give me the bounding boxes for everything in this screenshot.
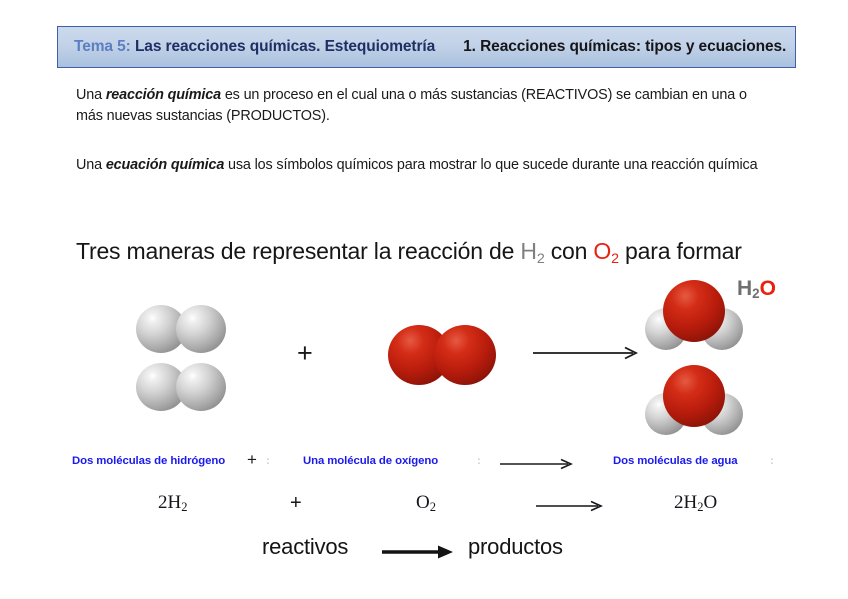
heading-hydrogen-symbol: H bbox=[520, 238, 536, 264]
heading-oxygen-subscript: 2 bbox=[611, 251, 619, 267]
heading-part-1: Tres maneras de representar la reacción … bbox=[76, 238, 520, 264]
oxygen-atom-icon bbox=[434, 325, 496, 385]
caption-separator-dots: : bbox=[770, 455, 774, 467]
equation-reactant-oxygen: O2 bbox=[416, 492, 436, 514]
section-heading: Tres maneras de representar la reacción … bbox=[76, 238, 742, 265]
label-reactants: reactivos bbox=[262, 534, 348, 560]
equation-oxygen-subscript: 2 bbox=[430, 500, 436, 514]
heading-part-3: para formar bbox=[619, 238, 742, 264]
caption-reactant-hydrogen: Dos moléculas de hidrógeno bbox=[72, 455, 225, 467]
equation-hydrogen-subscript: 2 bbox=[181, 500, 187, 514]
caption-separator-dots: : bbox=[477, 455, 481, 467]
equation-hydrogen-coefficient: 2H bbox=[158, 492, 181, 513]
paragraph-1-emphasis: reacción química bbox=[106, 87, 221, 103]
equation-product-water: 2H2O bbox=[674, 492, 717, 514]
oxygen-atom-icon bbox=[663, 365, 725, 427]
caption-separator-dots: : bbox=[266, 455, 270, 467]
equation-water-subscript: 2 bbox=[697, 500, 703, 514]
banner-topic-title: Las reacciones químicas. Estequiometría bbox=[131, 38, 435, 55]
definition-paragraph-equation: Una ecuación química usa los símbolos qu… bbox=[76, 155, 766, 176]
picture-row-plus-sign: + bbox=[297, 338, 313, 369]
heading-part-2: con bbox=[545, 238, 594, 264]
heading-hydrogen-subscript: 2 bbox=[537, 251, 545, 267]
heading-oxygen-symbol: O bbox=[593, 238, 611, 264]
equation-arrow-icon bbox=[536, 500, 606, 512]
heading-hydrogen-formula: H2 bbox=[520, 238, 544, 264]
hydrogen-atom-icon bbox=[176, 305, 226, 353]
banner-topic: Tema 5: Las reacciones químicas. Estequi… bbox=[74, 38, 435, 56]
equation-water-oxygen: O bbox=[704, 492, 718, 513]
picture-row-arrow-icon bbox=[533, 345, 641, 361]
banner-section-title: 1. Reacciones químicas: tipos y ecuacion… bbox=[463, 38, 786, 56]
water-molecule-2 bbox=[645, 365, 755, 437]
banner-topic-label: Tema 5: bbox=[74, 38, 131, 55]
caption-row-arrow-icon bbox=[500, 458, 576, 470]
water-molecule-1 bbox=[645, 280, 755, 352]
paragraph-1-before: Una bbox=[76, 87, 106, 103]
equation-plus-sign: + bbox=[290, 492, 302, 515]
caption-product-water: Dos moléculas de agua bbox=[613, 455, 738, 467]
paragraph-2-emphasis: ecuación química bbox=[106, 157, 224, 173]
reactants-to-products-arrow-icon bbox=[382, 542, 456, 562]
heading-oxygen-formula: O2 bbox=[593, 238, 618, 264]
equation-water-coefficient: 2H bbox=[674, 492, 697, 513]
water-label-o: O bbox=[760, 277, 776, 300]
slide-header-banner: Tema 5: Las reacciones químicas. Estequi… bbox=[57, 26, 796, 68]
hydrogen-atom-icon bbox=[176, 363, 226, 411]
equation-oxygen-symbol: O bbox=[416, 492, 430, 513]
hydrogen-molecule-2 bbox=[136, 363, 234, 411]
paragraph-2-before: Una bbox=[76, 157, 106, 173]
paragraph-2-after: usa los símbolos químicos para mostrar l… bbox=[224, 157, 757, 173]
caption-reactant-oxygen: Una molécula de oxígeno bbox=[303, 455, 438, 467]
equation-reactant-hydrogen: 2H2 bbox=[158, 492, 188, 514]
caption-row-plus-sign: + bbox=[247, 450, 257, 470]
oxygen-atom-icon bbox=[663, 280, 725, 342]
label-products: productos bbox=[468, 534, 563, 560]
oxygen-molecule bbox=[388, 325, 504, 385]
hydrogen-molecule-1 bbox=[136, 305, 234, 353]
definition-paragraph-reaction: Una reacción química es un proceso en el… bbox=[76, 85, 766, 127]
